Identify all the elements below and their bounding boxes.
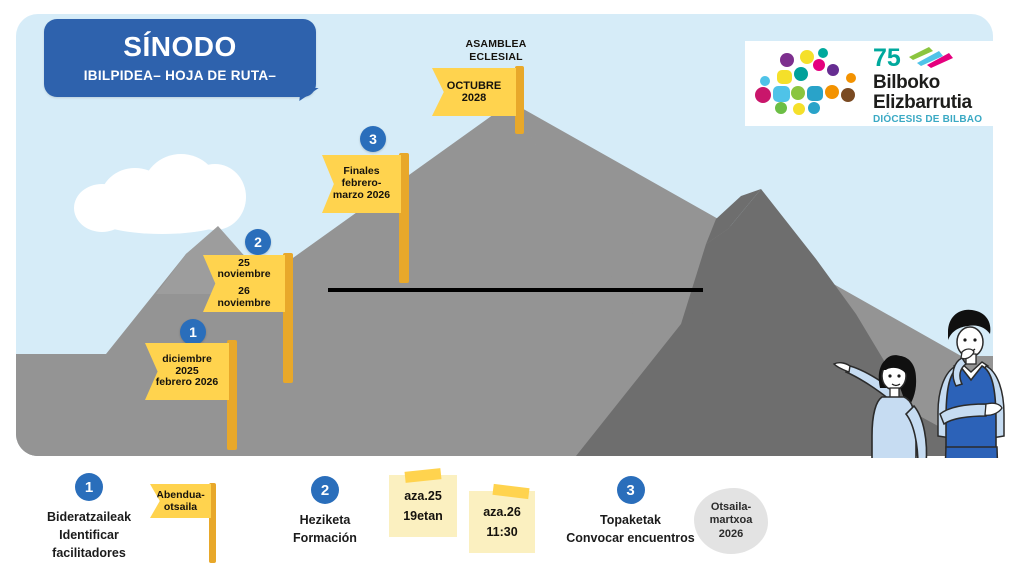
- step-label-1: Bideratzaileak Identificar facilitadores: [24, 508, 154, 562]
- page-title: SÍNODO: [123, 33, 236, 61]
- milestone-flag-1-line3: febrero 2026: [156, 377, 218, 389]
- asamblea-label-line2: ECLESIAL: [469, 51, 523, 63]
- sticky-note-b-line2: 11:30: [486, 522, 517, 542]
- logo-line-1: Bilboko: [873, 73, 982, 92]
- milestone-flag-1-line1: diciembre: [162, 354, 212, 366]
- sticky-note-b-tape: [492, 484, 529, 499]
- milestone-flag-3-banner: Finales febrero- marzo 2026: [322, 155, 401, 213]
- sticky-note-a-line2: 19etan: [403, 506, 443, 526]
- logo-line-2: Elizbarrutia: [873, 93, 982, 112]
- step-1-flag-banner: Abendua- otsaila: [150, 484, 211, 518]
- milestone-badge-1: 1: [180, 319, 206, 345]
- step-2-label-es-1: Formación: [293, 531, 357, 545]
- bottom-step-row: 1 Bideratzaileak Identificar facilitador…: [0, 458, 1024, 576]
- summit-flag-banner: OCTUBRE 2028: [432, 68, 516, 116]
- svg-text:75: 75: [873, 44, 901, 69]
- infographic-canvas: SÍNODO IBILPIDEA– HOJA DE RUTA–: [0, 0, 1024, 576]
- logo-wordmark: 75 Bilboko Elizbarrutia DIÓCESIS DE BILB…: [873, 43, 982, 125]
- step-1-label-eu: Bideratzaileak: [47, 510, 131, 524]
- step-badge-1: 1: [75, 473, 103, 501]
- summit-flag-line2: 2028: [462, 92, 486, 104]
- diocese-logo: 75 Bilboko Elizbarrutia DIÓCESIS DE BILB…: [745, 41, 993, 126]
- milestone-flag-2-line2: noviembre: [217, 269, 270, 281]
- step-3-label-eu: Topaketak: [600, 513, 661, 527]
- summit-flag-line1: OCTUBRE: [447, 80, 501, 92]
- step-1-label-es-2: facilitadores: [52, 546, 126, 560]
- asamblea-label-line1: ASAMBLEA: [465, 38, 526, 50]
- sticky-note-b-line1: aza.26: [483, 502, 521, 522]
- step-label-3: Topaketak Convocar encuentros: [548, 511, 713, 547]
- asamblea-label: ASAMBLEA ECLESIAL: [442, 38, 550, 64]
- step-2-label-eu: Heziketa: [300, 513, 351, 527]
- milestone-flag-2-banner: 25 noviembre 26 noviembre: [203, 255, 285, 312]
- sticky-note-a-line1: aza.25: [404, 486, 442, 506]
- step-item-2: 2 Heziketa Formación: [265, 476, 385, 547]
- title-bubble: SÍNODO IBILPIDEA– HOJA DE RUTA–: [44, 19, 316, 97]
- step-item-3: 3 Topaketak Convocar encuentros: [548, 476, 713, 547]
- step-3-date-blob: Otsaila- martxoa 2026: [694, 488, 768, 554]
- sticky-note-a-tape: [405, 468, 442, 483]
- milestone-badge-3: 3: [360, 126, 386, 152]
- step-1-label-es-1: Identificar: [59, 528, 119, 542]
- step-3-blob-line1: Otsaila-: [711, 501, 751, 513]
- step-3-label-es-1: Convocar encuentros: [566, 531, 695, 545]
- step-1-flag-line1: Abendua-: [156, 489, 204, 501]
- milestone-flag-3-line3: marzo 2026: [333, 190, 390, 202]
- milestone-flag-1-banner: diciembre 2025 febrero 2026: [145, 343, 229, 400]
- sticky-note-b: aza.26 11:30: [469, 491, 535, 553]
- step-3-blob-line3: 2026: [719, 528, 743, 540]
- logo-line-3: DIÓCESIS DE BILBAO: [873, 115, 982, 125]
- step-3-blob-line2: martxoa: [710, 514, 753, 526]
- step-label-2: Heziketa Formación: [265, 511, 385, 547]
- horizon-line: [328, 288, 703, 292]
- step-1-flag-line2: otsaila: [164, 501, 197, 513]
- logo-75-icon: 75: [873, 43, 969, 69]
- milestone-flag-2-line4: noviembre: [217, 298, 270, 310]
- mosaic-cross-icon: [751, 48, 871, 120]
- page-subtitle: IBILPIDEA– HOJA DE RUTA–: [84, 69, 276, 83]
- milestone-flag-2-line3: 26: [238, 286, 250, 298]
- step-item-1: 1 Bideratzaileak Identificar facilitador…: [24, 473, 154, 562]
- summit-flag-pole: [515, 66, 524, 134]
- step-badge-2: 2: [311, 476, 339, 504]
- step-badge-3: 3: [617, 476, 645, 504]
- sticky-note-a: aza.25 19etan: [389, 475, 457, 537]
- milestone-badge-2: 2: [245, 229, 271, 255]
- speech-bubble-tail: [299, 88, 318, 101]
